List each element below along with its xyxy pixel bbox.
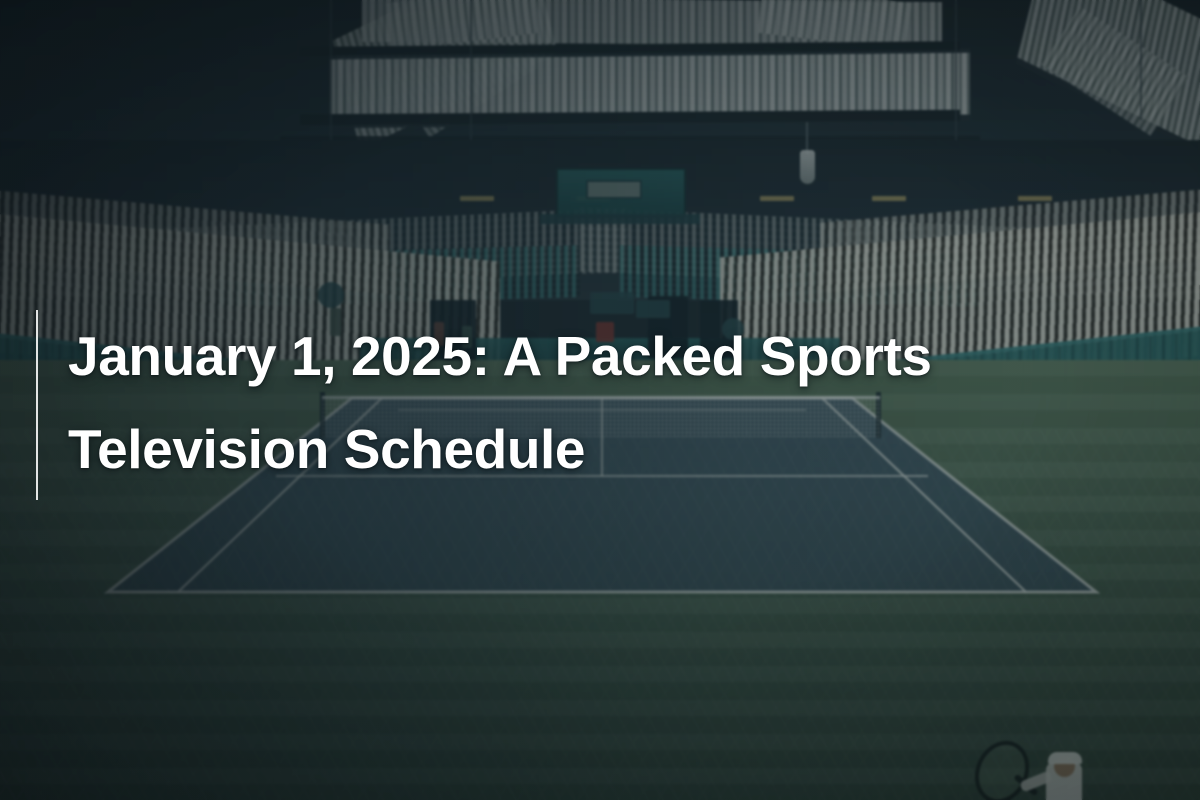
page-title: January 1, 2025: A Packed Sports Televis… [68,310,998,500]
title-accent-bar [36,310,38,500]
hero-banner: January 1, 2025: A Packed Sports Televis… [0,0,1200,800]
hero-title-block: January 1, 2025: A Packed Sports Televis… [36,310,998,500]
